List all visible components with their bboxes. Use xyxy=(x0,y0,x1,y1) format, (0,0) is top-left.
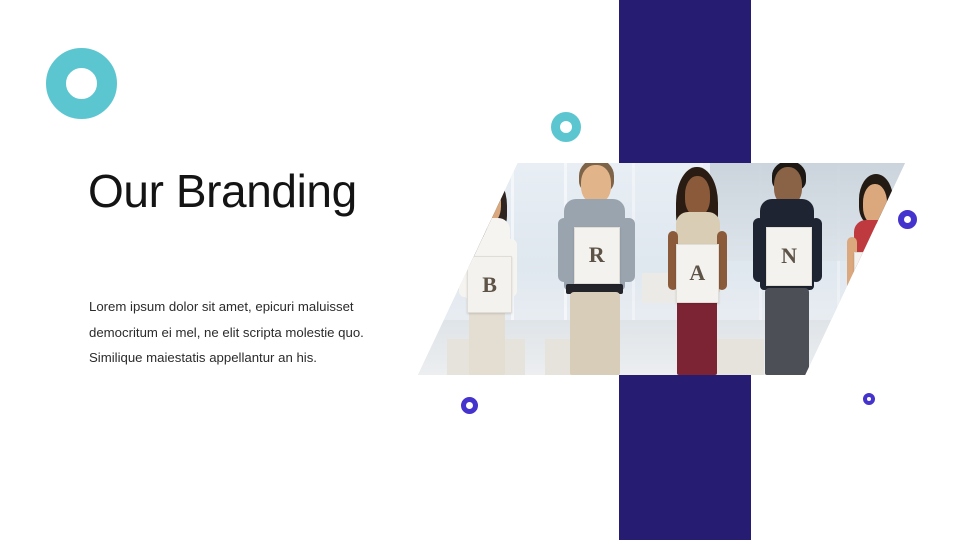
letter-card-r: R xyxy=(574,227,620,284)
brand-team-photo: B R A xyxy=(418,163,905,375)
person-a: A xyxy=(657,163,740,375)
person-b: B xyxy=(447,163,530,375)
purple-accent-ring-small-icon xyxy=(863,393,875,405)
person-r: R xyxy=(549,163,642,375)
body-paragraph: Lorem ipsum dolor sit amet, epicuri malu… xyxy=(89,294,389,371)
page-title: Our Branding xyxy=(88,166,357,217)
letter-card-n: N xyxy=(766,227,812,286)
purple-accent-ring-right-icon xyxy=(898,210,917,229)
person-d: D xyxy=(837,163,905,375)
slide-canvas: B R A xyxy=(0,0,960,540)
letter-card-d: D xyxy=(854,252,897,311)
teal-accent-ring-icon xyxy=(551,112,581,142)
purple-accent-ring-left-icon xyxy=(461,397,478,414)
person-n: N xyxy=(744,163,832,375)
letter-card-a: A xyxy=(676,244,719,303)
teal-logo-ring-icon xyxy=(46,48,117,119)
letter-card-b: B xyxy=(467,256,512,313)
